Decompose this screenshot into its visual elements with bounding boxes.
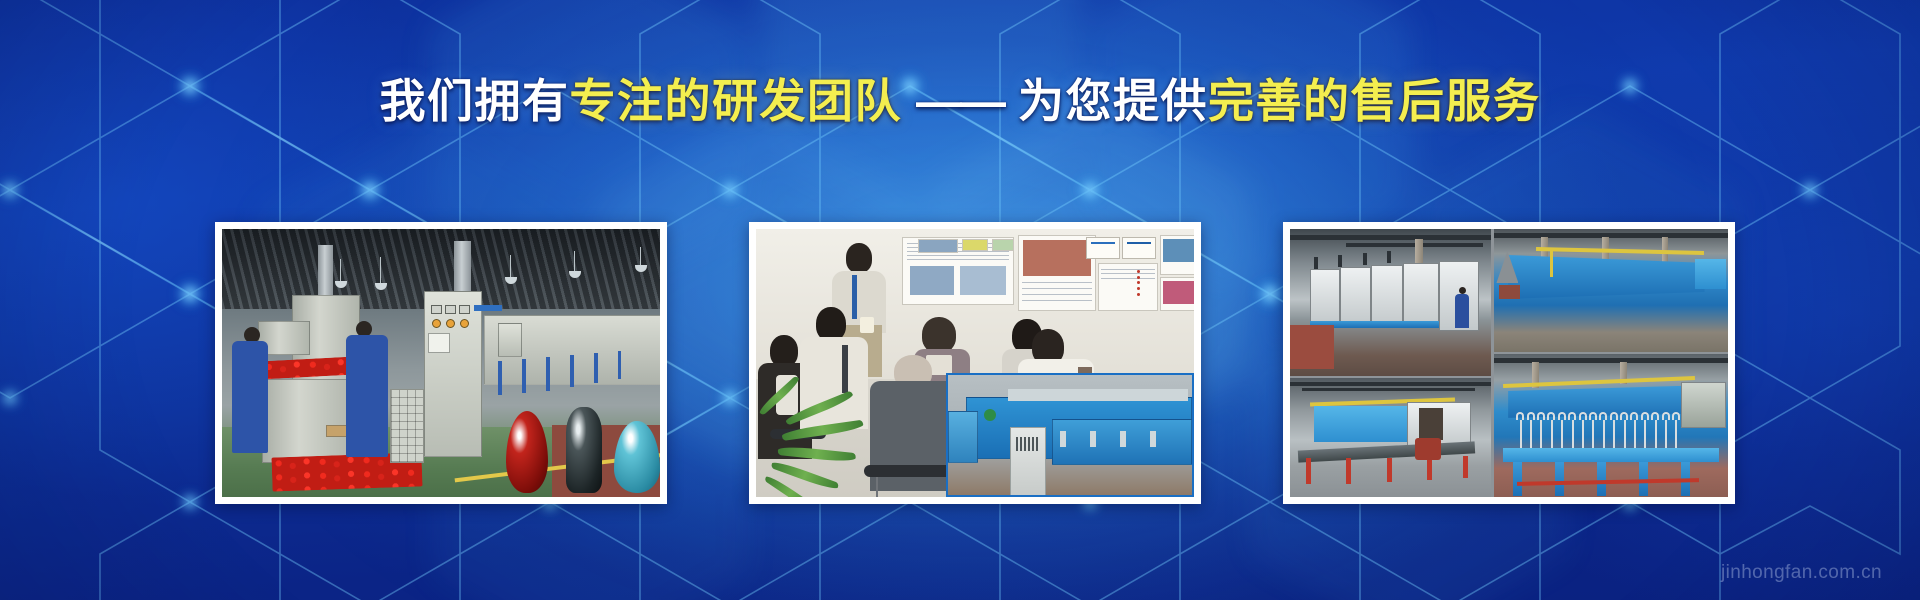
poster-photo-strip bbox=[962, 239, 988, 251]
person-head bbox=[846, 243, 872, 273]
cabinet-indicator-light bbox=[446, 319, 455, 328]
poster-photo-strip bbox=[918, 239, 958, 253]
lamp-wire bbox=[510, 255, 511, 277]
collage-cell-blue-tunnel-kiln bbox=[1494, 229, 1728, 352]
top-fitting bbox=[1314, 257, 1318, 269]
red-machine-unit bbox=[1415, 438, 1441, 460]
person-head bbox=[816, 307, 846, 341]
furnace-cabinet bbox=[1403, 263, 1439, 329]
blue-post bbox=[618, 351, 621, 379]
kiln-entry-frame bbox=[1499, 285, 1520, 299]
photo-enamel-coating-production-line bbox=[222, 229, 660, 497]
blue-post bbox=[546, 357, 550, 391]
cabinet-indicator-light bbox=[432, 319, 441, 328]
exhaust-duct bbox=[454, 241, 471, 295]
kiln-end-section bbox=[1695, 259, 1725, 289]
chair-leg bbox=[876, 477, 878, 497]
blue-post bbox=[570, 355, 574, 387]
lamp-wire bbox=[380, 257, 381, 283]
roof-beam bbox=[1494, 358, 1728, 363]
document-in-hand bbox=[860, 317, 874, 333]
inset-photo-coating-line bbox=[946, 373, 1194, 497]
red-floor-rail bbox=[1517, 478, 1699, 486]
photo-frame-enamel-coating-production-line[interactable] bbox=[215, 222, 667, 504]
worker-in-blue-uniform bbox=[1455, 294, 1469, 328]
potted-palm-plant bbox=[756, 405, 876, 497]
wall-poster bbox=[1098, 263, 1158, 311]
collage-cell-hook-conveyor bbox=[1494, 354, 1728, 497]
hero-banner: 我们拥有专注的研发团队——为您提供完善的售后服务 bbox=[0, 0, 1920, 600]
photo-gallery-row bbox=[215, 222, 1735, 504]
collage-cell-cabinet-furnace-row bbox=[1290, 229, 1491, 376]
gas-pipe bbox=[1536, 247, 1704, 255]
frame-leg bbox=[1555, 462, 1564, 496]
machine-nozzle bbox=[1150, 431, 1156, 447]
collage-cell-chain-conveyor-line bbox=[1290, 378, 1491, 497]
plastic-crate bbox=[390, 389, 424, 463]
cabinet-brand-label bbox=[474, 305, 502, 311]
cabinet-gauge bbox=[445, 305, 456, 314]
cabinet-gauge bbox=[459, 305, 470, 314]
machine-nozzle bbox=[1120, 431, 1126, 447]
wall-poster bbox=[1160, 277, 1194, 311]
tunnel-kiln-body bbox=[1508, 255, 1704, 299]
green-handwheel bbox=[984, 409, 996, 421]
glass-vase-red bbox=[506, 411, 548, 493]
top-fitting bbox=[1363, 253, 1367, 265]
frame-leg bbox=[1597, 462, 1606, 496]
top-fitting bbox=[1387, 251, 1391, 263]
conveyor-frame-rail bbox=[1503, 448, 1718, 462]
cabinet-gauge bbox=[431, 305, 442, 314]
headline-segment-1: 我们拥有 bbox=[380, 75, 570, 127]
lanyard bbox=[852, 275, 857, 319]
furnace-cabinet bbox=[1310, 269, 1340, 325]
necktie bbox=[842, 345, 848, 393]
cabinet-switch-row bbox=[1016, 437, 1040, 451]
roof-beam bbox=[1290, 235, 1491, 240]
blue-machine-end bbox=[948, 411, 978, 463]
blue-post bbox=[522, 359, 526, 393]
conveyor-support-leg bbox=[1427, 458, 1432, 480]
headline-segment-2: 专注的研发团队 bbox=[570, 75, 903, 127]
certificate-frame bbox=[1122, 237, 1156, 259]
lamp-wire bbox=[640, 247, 641, 265]
photo-customer-technical-meeting bbox=[756, 229, 1194, 497]
blue-oven-section bbox=[1314, 406, 1407, 442]
end-cabinet bbox=[1681, 382, 1725, 428]
headline-segment-3: 为您提供 bbox=[1018, 75, 1208, 127]
gas-pipe-drop bbox=[1550, 251, 1553, 277]
red-floor-strip bbox=[1290, 325, 1334, 369]
lamp-wire bbox=[574, 251, 575, 271]
roof-beam bbox=[1290, 382, 1491, 386]
photo-frame-customer-technical-meeting[interactable] bbox=[749, 222, 1201, 504]
headline-dash: —— bbox=[902, 75, 1018, 127]
overhead-rail bbox=[1302, 388, 1475, 391]
certificate-frame bbox=[1086, 237, 1120, 259]
conveyor-support-leg bbox=[1306, 458, 1311, 484]
worker-in-blue-uniform bbox=[346, 335, 388, 457]
conveyor-support-leg bbox=[1387, 458, 1392, 482]
glass-vase-dark bbox=[566, 407, 602, 493]
machine-top-rail bbox=[1008, 389, 1188, 401]
oven-doorway bbox=[1419, 408, 1443, 440]
furnace-cabinet bbox=[1371, 265, 1403, 327]
cabinet-display bbox=[428, 333, 450, 353]
wall-poster bbox=[1018, 235, 1096, 311]
machine-base bbox=[262, 379, 354, 463]
furnace-cabinet bbox=[1340, 267, 1370, 325]
banner-headline: 我们拥有专注的研发团队——为您提供完善的售后服务 bbox=[0, 78, 1920, 124]
photo-furnace-line-collage bbox=[1290, 229, 1728, 497]
cabinet-indicator-light bbox=[460, 319, 469, 328]
person-head bbox=[922, 317, 956, 353]
wall-notice-board bbox=[498, 323, 522, 357]
blue-post bbox=[498, 361, 502, 395]
control-cabinet bbox=[424, 291, 482, 457]
conveyor-support-leg bbox=[1463, 456, 1468, 478]
headline-segment-4: 完善的售后服务 bbox=[1208, 75, 1541, 127]
site-watermark: jinhongfan.com.cn bbox=[1721, 562, 1882, 584]
frame-leg bbox=[1513, 462, 1522, 496]
poster-photo-strip bbox=[992, 239, 1014, 251]
lamp-wire bbox=[340, 259, 341, 281]
conveyor-support-leg bbox=[1346, 458, 1351, 484]
hanger-hook-row bbox=[1513, 412, 1686, 448]
roof-beam bbox=[1494, 233, 1728, 238]
photo-frame-furnace-line-collage[interactable] bbox=[1283, 222, 1735, 504]
machine-nozzle bbox=[1090, 431, 1096, 447]
blue-post bbox=[594, 353, 598, 383]
worker-in-blue-uniform bbox=[232, 341, 268, 453]
machine-nozzle bbox=[1060, 431, 1066, 447]
top-fitting bbox=[1338, 255, 1342, 267]
wall-poster bbox=[1160, 235, 1194, 275]
